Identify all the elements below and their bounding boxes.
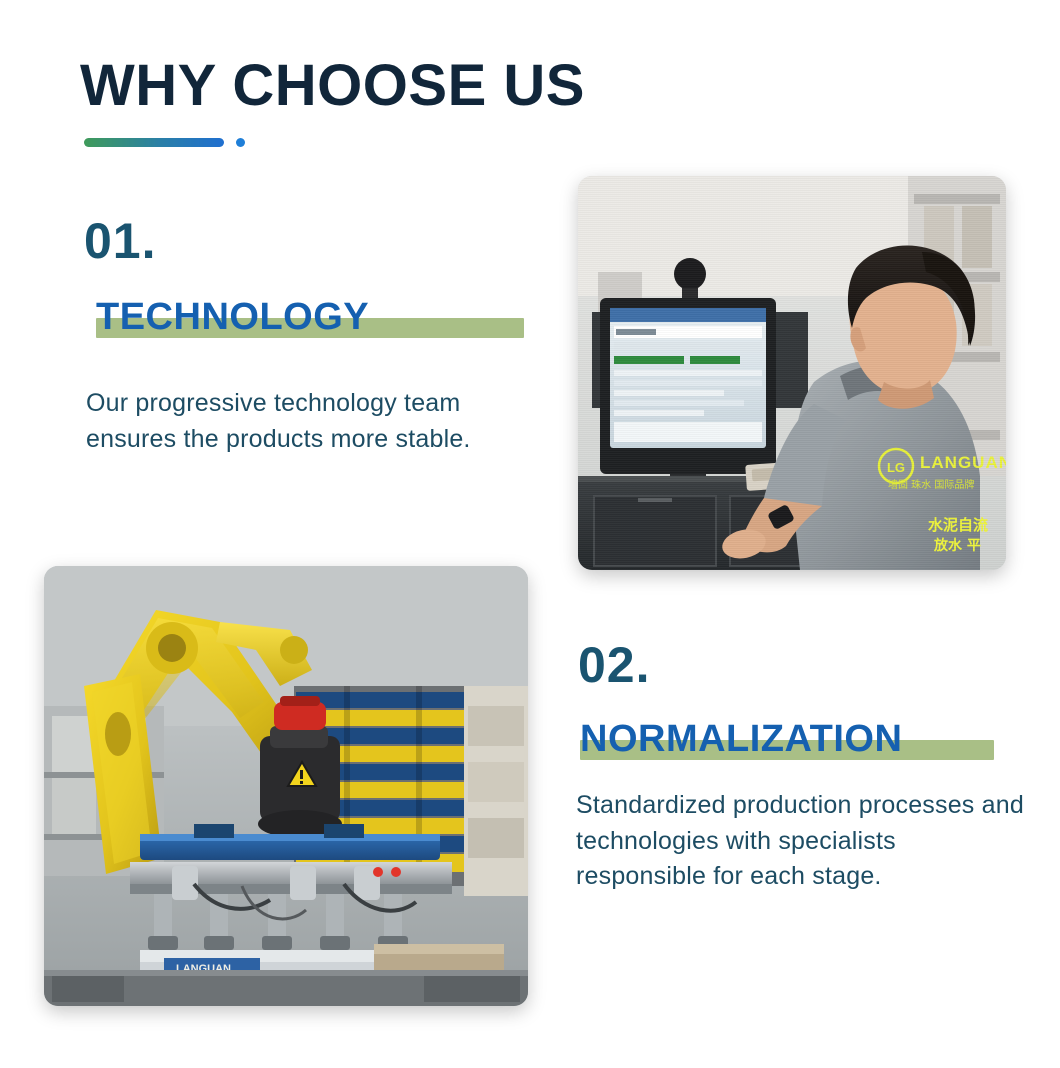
item-02-body: Standardized production processes and te… <box>576 788 1024 895</box>
underline-dot-icon <box>236 138 245 147</box>
svg-text:水泥自流: 水泥自流 <box>928 516 988 534</box>
item-01-number: 01. <box>84 212 157 270</box>
page-title: WHY CHOOSE US <box>80 56 585 117</box>
svg-text:放水 平: 放水 平 <box>933 537 981 554</box>
why-choose-us-page: WHY CHOOSE US 01. TECHNOLOGY Our progres… <box>0 0 1060 1068</box>
item-02-number: 02. <box>578 636 651 694</box>
underline-bar <box>84 138 224 147</box>
title-underline-decoration <box>84 138 264 148</box>
svg-text:墙固 珠水 国际品牌: 墙固 珠水 国际品牌 <box>888 478 974 491</box>
svg-text:LG: LG <box>887 460 905 475</box>
robotic-palletizer-photo: LANGUAN <box>44 566 528 1006</box>
item-01-subtitle: TECHNOLOGY <box>96 296 369 339</box>
item-01-subtitle-wrap: TECHNOLOGY <box>96 296 369 339</box>
item-01-body: Our progressive technology team ensures … <box>86 386 546 457</box>
operator-photo-illustration: LG LANGUAN 墙固 珠水 国际品牌 水泥自流 放水 平 <box>578 176 1006 570</box>
svg-text:LANGUAN: LANGUAN <box>920 453 1006 472</box>
operator-at-testing-machine-photo: LG LANGUAN 墙固 珠水 国际品牌 水泥自流 放水 平 <box>578 176 1006 570</box>
item-02-subtitle-wrap: NORMALIZATION <box>580 718 902 761</box>
item-02-subtitle: NORMALIZATION <box>580 718 902 761</box>
robot-photo-illustration: LANGUAN <box>44 566 528 1006</box>
